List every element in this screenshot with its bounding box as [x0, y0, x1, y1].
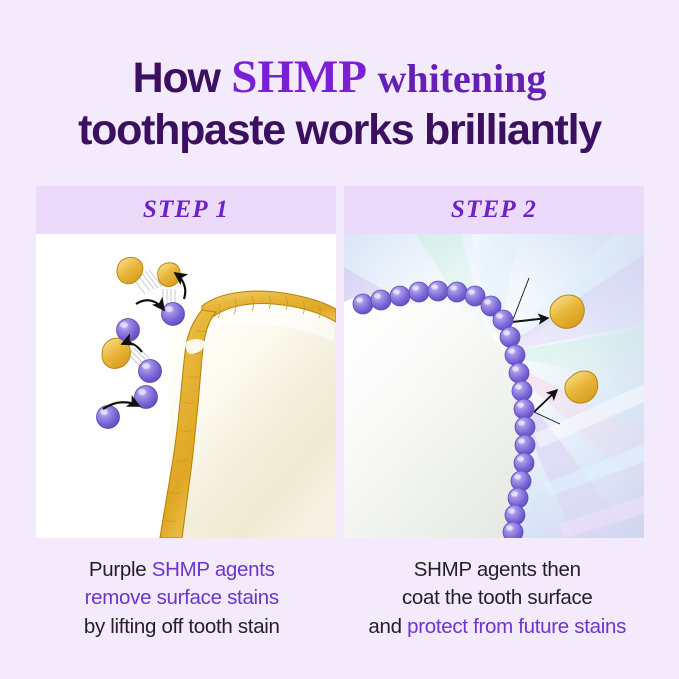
stain-chunk [550, 295, 584, 328]
steps-container: STEP 1 [36, 186, 644, 538]
shmp-agent [353, 294, 373, 314]
shmp-agent [508, 488, 528, 508]
captions-container: Purple SHMP agents remove surface stains… [24, 556, 655, 641]
shmp-agent [447, 282, 467, 302]
shmp-agent [512, 381, 532, 401]
shmp-agent [390, 286, 410, 306]
caption-2-line-1: SHMP agents then [340, 556, 656, 584]
page-title: How SHMP whitening toothpaste works bril… [0, 52, 679, 153]
caption-step-1: Purple SHMP agents remove surface stains… [24, 556, 340, 641]
shmp-agent [428, 281, 448, 301]
title-line-1: How SHMP whitening [0, 52, 679, 103]
shmp-agent [509, 363, 529, 383]
shmp-agent [117, 319, 140, 342]
caption-step-2: SHMP agents then coat the tooth surface … [340, 556, 656, 641]
title-line-2: toothpaste works brilliantly [0, 107, 679, 153]
shmp-agent [515, 435, 535, 455]
shmp-agent [505, 345, 525, 365]
shmp-agent [515, 417, 535, 437]
caption-2-line-2: coat the tooth surface [340, 584, 656, 612]
shmp-agent [162, 303, 185, 326]
shmp-agent [409, 282, 429, 302]
step-1-header: STEP 1 [36, 186, 336, 234]
caption-2-line-3: and protect from future stains [340, 613, 656, 641]
step-2-illustration [344, 234, 644, 538]
step-panel-2: STEP 2 [344, 186, 644, 538]
step-1-illustration [36, 234, 336, 538]
step-2-label: STEP 2 [451, 196, 537, 224]
title-word-shmp: SHMP [224, 51, 373, 103]
shmp-agent [514, 453, 534, 473]
infographic-root: How SHMP whitening toothpaste works bril… [0, 0, 679, 679]
title-word-whitening: whitening [377, 56, 546, 101]
shmp-agent [139, 360, 162, 383]
shmp-agent [514, 399, 534, 419]
step-panel-1: STEP 1 [36, 186, 336, 538]
shmp-agent [97, 406, 120, 429]
caption-1-line-1: Purple SHMP agents [24, 556, 340, 584]
title-word-how: How [133, 54, 220, 102]
shmp-agent [500, 327, 520, 347]
step-2-header: STEP 2 [344, 186, 644, 234]
shmp-agent [503, 522, 523, 538]
shmp-agent [371, 290, 391, 310]
step-1-label: STEP 1 [143, 196, 229, 224]
caption-1-line-3: by lifting off tooth stain [24, 613, 340, 641]
caption-1-line-2: remove surface stains [24, 584, 340, 612]
shmp-agent [511, 471, 531, 491]
